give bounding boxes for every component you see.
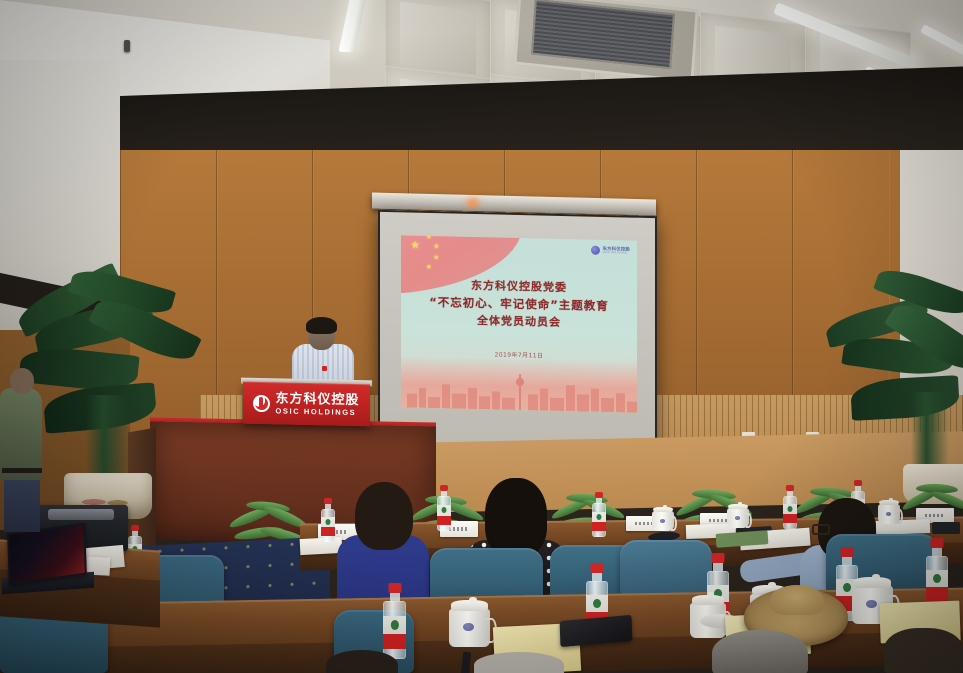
- bottle-label: [926, 570, 948, 602]
- osic-logo-icon: [253, 394, 270, 411]
- slide-logo-en: OSIC HOLDINGS: [602, 251, 630, 255]
- mug-lid-knob: [663, 505, 667, 508]
- slide-text-block: 东方科仪控股党委 “不忘初心、牢记使命”主题教育 全体党员动员会: [401, 275, 637, 332]
- conference-chair[interactable]: [620, 540, 712, 596]
- bottle-cap: [841, 547, 854, 557]
- presentation-slide: ★ ★ ★ ★ ★ 东方科仪控股 OSIC HOLDINGS 东方科仪控股党委 …: [401, 235, 637, 412]
- skyline-building: [428, 397, 440, 408]
- flag-star: ★: [426, 264, 433, 271]
- skyline-building: [528, 394, 538, 410]
- mug-logo: [463, 623, 474, 631]
- projection-screen: ★ ★ ★ ★ ★ 东方科仪控股 OSIC HOLDINGS 东方科仪控股党委 …: [378, 210, 657, 453]
- straw-hat-crown: [770, 585, 824, 615]
- mug-lid-knob: [469, 597, 477, 602]
- water-bottle: [437, 485, 451, 531]
- party-badge: [322, 366, 327, 371]
- mug-lid-knob: [738, 502, 742, 505]
- attendee-eyeglasses: [812, 524, 830, 535]
- foreground-head-dark: [884, 628, 963, 673]
- attendee-head-back: [485, 478, 547, 556]
- flag-star: ★: [425, 235, 432, 241]
- foreground-head-dark: [326, 650, 398, 673]
- bottle-neck: [390, 593, 400, 601]
- bottle-label: [592, 512, 606, 531]
- skyline-building: [627, 401, 637, 412]
- city-skyline-graphic: [401, 355, 637, 412]
- bottle-label-band: [437, 516, 451, 525]
- conference-room-photo: ★ ★ ★ ★ ★ 东方科仪控股 OSIC HOLDINGS 东方科仪控股党委 …: [0, 0, 963, 673]
- skyline-building: [577, 394, 589, 411]
- mug-lid-knob: [872, 574, 880, 579]
- water-bottle: [383, 583, 406, 659]
- skyline-building: [442, 384, 450, 408]
- mug-logo: [660, 519, 666, 523]
- tablet-device: [932, 522, 960, 534]
- tea-mug: [652, 505, 677, 531]
- bottle-label-emblem: [390, 620, 398, 630]
- bottle-label-band: [383, 634, 406, 649]
- skyline-building: [468, 388, 477, 409]
- mug-lid-knob: [708, 592, 715, 597]
- palm-plant-left: [30, 255, 210, 515]
- printer-paper-tray: [48, 509, 114, 520]
- bottle-label-band: [926, 587, 948, 602]
- standing-attendee-belt: [2, 468, 42, 473]
- bottle-cap: [931, 538, 944, 548]
- bottle-label-band: [592, 522, 606, 531]
- skyline-building: [601, 398, 614, 412]
- speaker-hair: [306, 317, 337, 334]
- skyline-building: [492, 391, 500, 409]
- foreground-head-gray: [712, 630, 808, 673]
- foreground-head-gray: [474, 652, 564, 673]
- skyline-building: [566, 385, 575, 411]
- screen-status-led: [470, 201, 476, 205]
- osic-logo-icon: [591, 246, 600, 255]
- mug-lid: [854, 577, 891, 588]
- attendee-head-back: [355, 482, 413, 550]
- slide-logo: 东方科仪控股 OSIC HOLDINGS: [591, 246, 630, 256]
- skyline-building: [407, 393, 417, 407]
- bottle-cap: [591, 563, 604, 573]
- skyline-building: [616, 393, 625, 412]
- laptop-screen[interactable]: [7, 523, 87, 586]
- mug-lid-knob: [889, 498, 893, 501]
- mug-handle: [671, 516, 678, 531]
- bottle-neck: [592, 573, 602, 581]
- bottle-label-emblem: [325, 519, 330, 525]
- bottle-label: [383, 616, 406, 649]
- water-bottle: [592, 492, 606, 537]
- skyline-building: [550, 398, 564, 411]
- bottle-label: [783, 504, 797, 523]
- skyline-building: [540, 389, 548, 411]
- bottle-label-emblem: [933, 574, 941, 584]
- bottle-label-emblem: [441, 507, 446, 513]
- skyline-building: [419, 388, 426, 408]
- mug-logo: [886, 512, 892, 516]
- flag-star: ★: [433, 254, 440, 261]
- bottle-neck: [842, 557, 852, 565]
- bottle-cap: [712, 553, 725, 563]
- podium-brand-text: 东方科仪控股 OSIC HOLDINGS: [275, 392, 359, 416]
- mug-handle: [897, 509, 904, 524]
- bottle-label-emblem: [787, 506, 792, 512]
- skyline-building: [591, 389, 599, 412]
- skyline-tower-sphere: [516, 378, 524, 386]
- podium-brand-cn: 东方科仪控股: [275, 392, 359, 407]
- bottle-label-band: [321, 527, 335, 536]
- standing-attendee-torso: [0, 388, 42, 480]
- bottle-label: [437, 505, 451, 525]
- podium-brand-en: OSIC HOLDINGS: [275, 407, 359, 416]
- palm-plant-right: [855, 262, 963, 512]
- flag-star: ★: [433, 243, 440, 250]
- mug-logo: [866, 600, 877, 608]
- podium-banner: 东方科仪控股 OSIC HOLDINGS: [243, 382, 370, 427]
- mug-handle: [746, 513, 753, 528]
- water-bottle: [321, 498, 335, 542]
- tea-mug: [449, 597, 497, 647]
- mug-lid: [451, 600, 488, 611]
- bottle-label-emblem: [843, 583, 851, 593]
- skyline-building: [452, 394, 466, 409]
- tea-mug: [878, 498, 903, 524]
- bottle-cap: [388, 583, 401, 593]
- water-bottle: [783, 485, 797, 529]
- bottle-label: [321, 517, 335, 536]
- flag-star: ★: [410, 242, 420, 249]
- tea-mug: [727, 502, 752, 528]
- bottle-neck: [932, 548, 942, 556]
- standing-attendee-head: [10, 368, 34, 394]
- bottle-label-emblem: [593, 599, 601, 609]
- mug-lid-knob: [768, 582, 775, 587]
- skyline-building: [479, 396, 490, 409]
- bottle-neck: [713, 563, 723, 571]
- sprinkler-head: [124, 40, 130, 52]
- bottle-label-band: [783, 514, 797, 523]
- bottle-label-emblem: [596, 514, 601, 520]
- skyline-building: [502, 398, 515, 410]
- mug-logo: [735, 516, 741, 520]
